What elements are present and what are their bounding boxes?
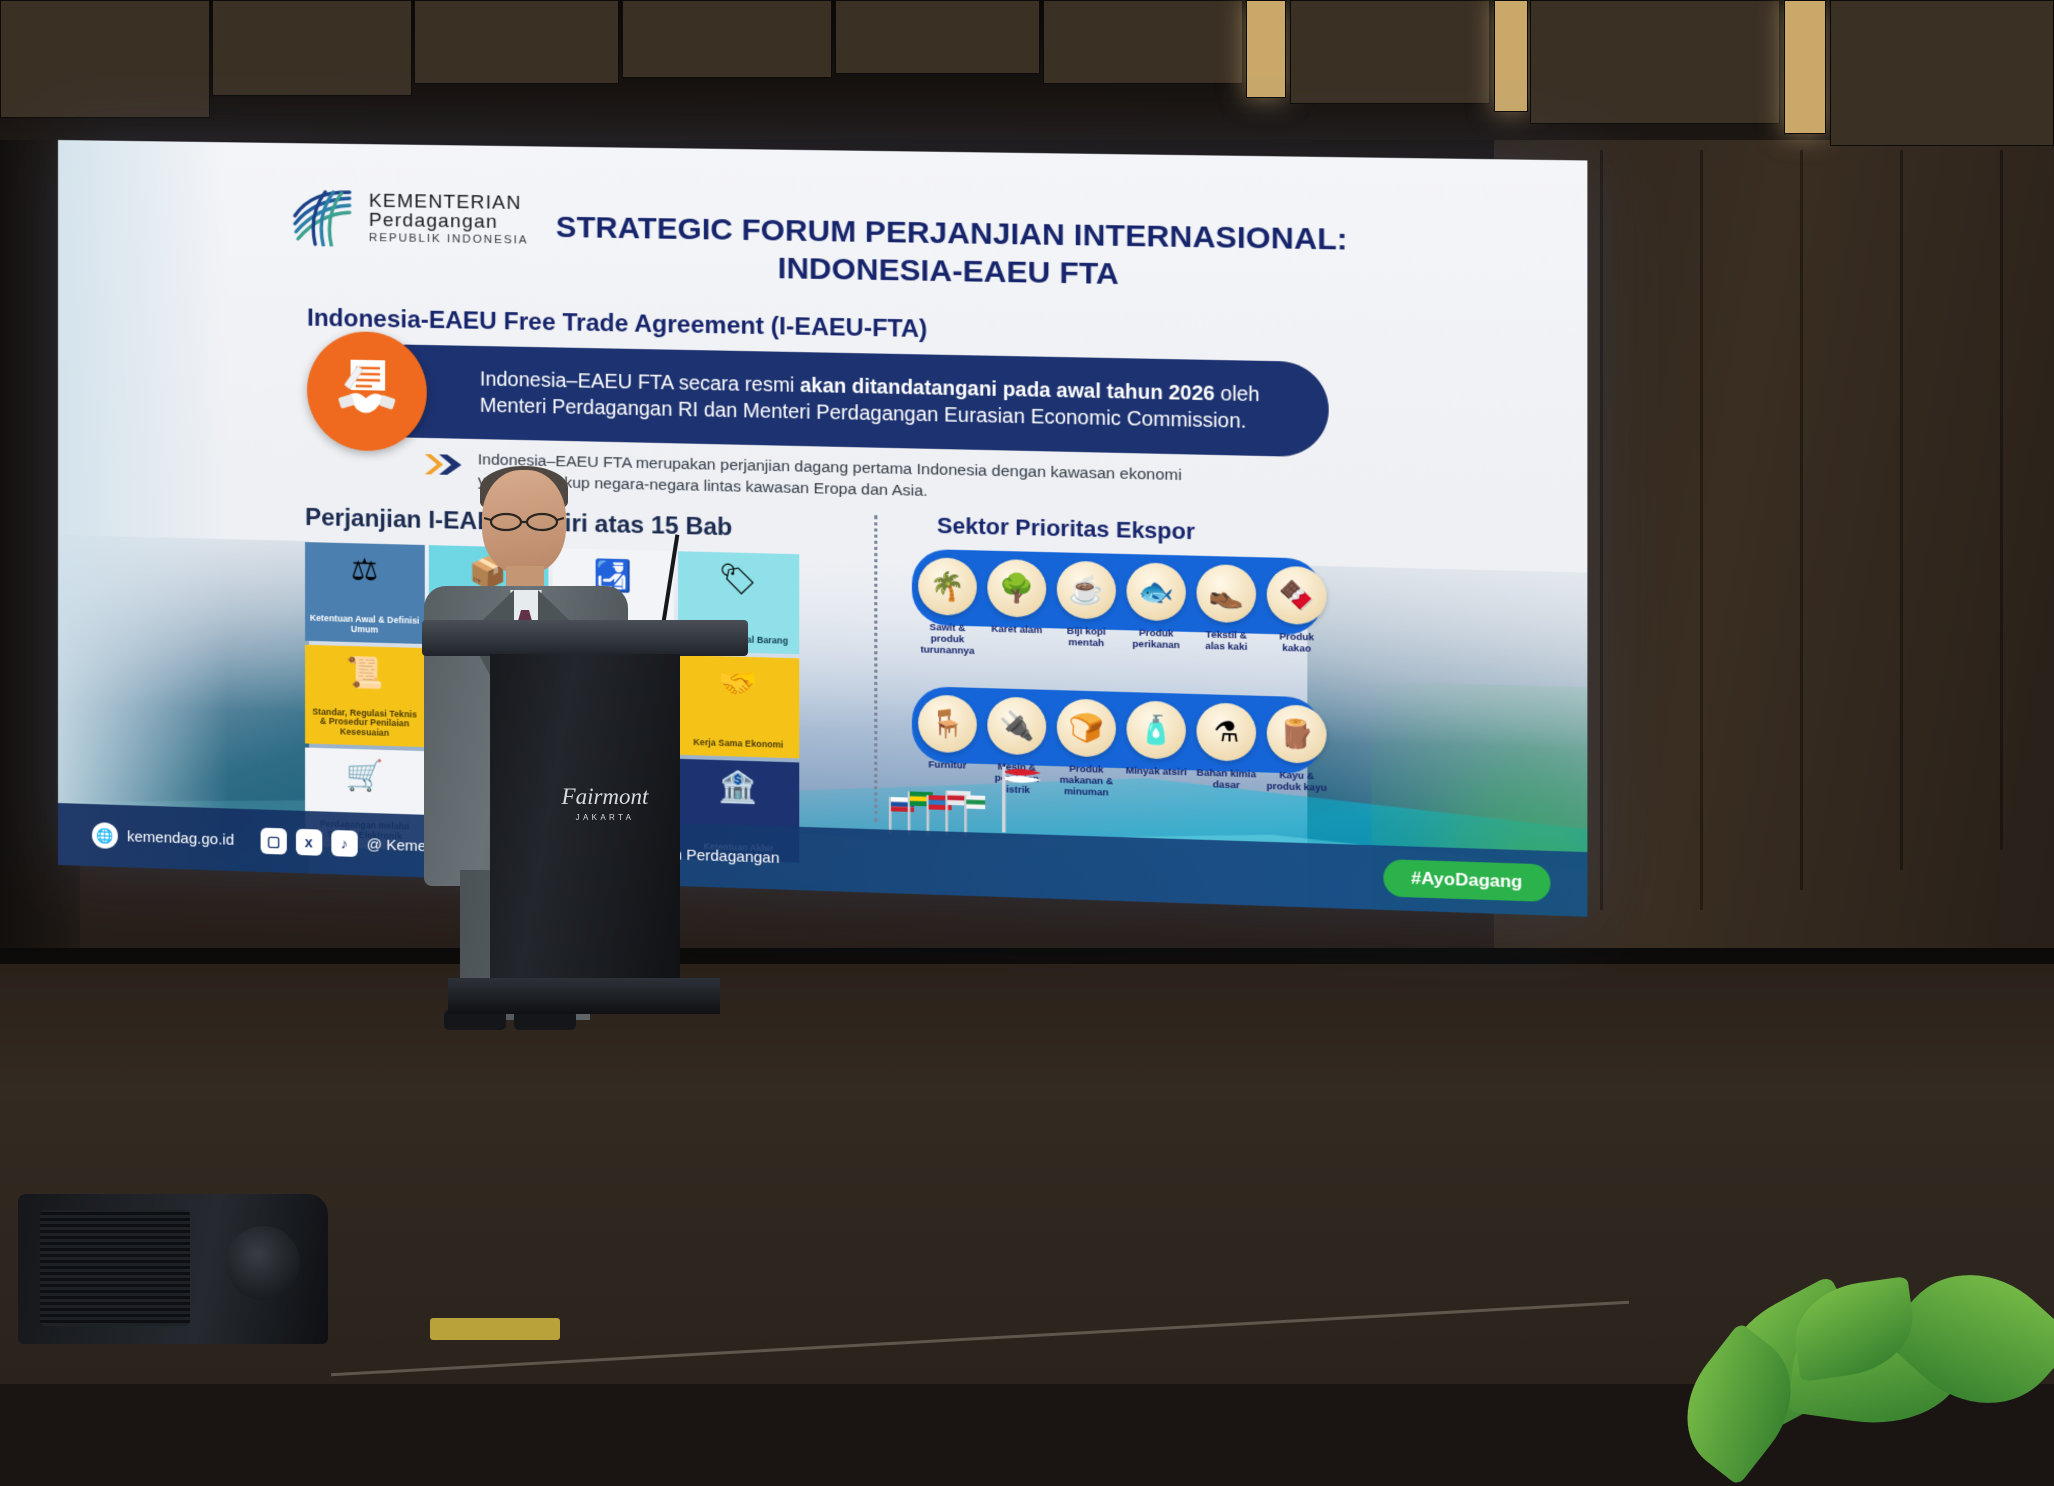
cocoa-product-icon: 🍫 [1267,566,1327,625]
campaign-hashtag-badge: #AyoDagang [1383,859,1550,902]
export-sector-item: 🐟Produk perikanan [1124,562,1188,663]
ceiling-light-panel [1494,0,1528,112]
signing-callout-box: Indonesia–EAEU FTA secara resmi akan dit… [360,344,1329,458]
export-sector-row-1: 🌴Sawit & produk turunannya🌳Karet alam☕Bi… [916,557,1329,667]
export-sector-label: Tekstil & alas kaki [1194,629,1258,653]
callout-text-bold: akan ditandatangani pada awal tahun 2026 [800,374,1215,405]
ceiling-panel [622,0,832,78]
woven-threads-logo-icon [291,187,356,246]
brand-line-3: REPUBLIK INDONESIA [369,232,529,246]
export-sector-item: 🍞Produk makanan & minuman [1055,698,1118,799]
footer-website-group[interactable]: 🌐 kemendag.go.id [92,822,234,853]
textile-footwear-icon: 👞 [1196,564,1256,623]
venue-name: Fairmont [540,784,670,810]
basic-chemicals-icon: ⚗ [1196,702,1256,762]
export-sector-item: 🍫Produk kakao [1265,566,1329,667]
member-flags-glyph [887,776,988,837]
export-sector-label: Produk kakao [1265,631,1329,656]
export-sector-label: Sawit & produk turunannya [916,622,979,658]
floor-monitor-plate [430,1318,560,1340]
signing-callout-text: Indonesia–EAEU FTA secara resmi akan dit… [480,366,1301,436]
export-sector-item: ☕Biji kopi mentah [1055,560,1118,660]
venue-city: JAKARTA [540,813,670,822]
ceiling-light-panel [1246,0,1286,98]
palm-oil-icon: 🌴 [918,557,977,616]
tiktok-icon[interactable]: ♪ [331,830,357,857]
export-sector-label: Produk makanan & minuman [1055,763,1118,799]
export-sector-label: Produk perikanan [1124,627,1188,651]
economic-cooperation-icon: 🤝 [719,668,758,700]
indonesia-flag-icon [1000,767,1055,840]
signed-agreement-handshake-icon [307,331,427,452]
chapter-tile-label: Ketentuan Awal & Definisi Umum [309,614,420,637]
eaeu-member-flags-icon [887,776,988,837]
loudspeaker-driver [226,1226,300,1300]
food-beverage-icon: 🍞 [1057,698,1116,757]
slide-title: STRATEGIC FORUM PERJANJIAN INTERNASIONAL… [533,209,1372,298]
ceiling-panel [0,0,210,118]
export-sectors-heading: Sektor Prioritas Ekspor [937,513,1195,546]
essential-oil-icon: 🧴 [1127,700,1186,759]
export-sector-label: Furnitur [928,759,966,771]
chapter-tile: 📜Standar, Regulasi Teknis & Prosedur Pen… [305,645,424,747]
export-sector-label: Bahan kimia dasar [1194,767,1258,792]
export-sector-label: Minyak atsiri [1126,765,1187,778]
export-sector-label: Biji kopi mentah [1055,625,1118,649]
export-sector-label: Karet alam [991,624,1042,637]
lectern: Fairmont JAKARTA [470,620,700,1020]
furniture-icon: 🪑 [918,694,977,753]
export-sector-item: 👞Tekstil & alas kaki [1194,564,1258,665]
brand-line-2: Perdagangan [369,211,529,233]
certificate-standard-icon: 📜 [346,658,384,689]
wall-slat [1700,150,1703,910]
ceiling-panel [212,0,412,96]
ecommerce-icon: 🛒 [346,761,384,792]
globe-icon: 🌐 [92,822,118,849]
final-provisions-icon: 🏦 [719,772,758,804]
loudspeaker-grill [40,1210,190,1326]
stage-loudspeaker [18,1134,348,1344]
coffee-beans-icon: ☕ [1057,561,1116,620]
ceiling-panel [1530,0,1780,124]
gavel-document-icon: ⚖ [351,555,378,586]
origin-parcel-seal-icon: 🏷 [719,564,758,596]
export-sector-item: 🧴Minyak atsiri [1124,700,1188,801]
instagram-icon[interactable]: ▢ [260,828,286,855]
ceiling-panel [414,0,619,84]
ministry-brand-lockup: KEMENTERIAN Perdagangan REPUBLIK INDONES… [291,187,528,249]
ceiling-panel [1830,0,2054,146]
electrical-machinery-icon: 🔌 [987,696,1046,755]
natural-rubber-icon: 🌳 [987,559,1046,618]
export-sector-label: Kayu & produk kayu [1265,769,1329,794]
wall-slat [1900,150,1903,870]
indonesia-flag-glyph [1000,767,1055,834]
handshake-document-glyph [327,351,406,431]
lectern-venue-logo: Fairmont JAKARTA [540,784,670,822]
chapter-tile: ⚖Ketentuan Awal & Definisi Umum [305,542,424,644]
fish-product-icon: 🐟 [1127,562,1186,621]
export-sector-item: 🌳Karet alam [985,559,1048,659]
x-twitter-icon[interactable]: x [296,829,322,856]
lectern-top [422,620,748,656]
ministry-brand-text: KEMENTERIAN Perdagangan REPUBLIK INDONES… [369,191,529,247]
lectern-body: Fairmont JAKARTA [490,654,680,984]
hashtag-prefix: #Ayo [1411,868,1455,889]
export-sector-item: ⚗Bahan kimia dasar [1194,702,1258,803]
wood-product-icon: 🪵 [1267,704,1327,764]
export-sector-item: 🪵Kayu & produk kayu [1265,704,1329,805]
lectern-base [448,978,720,1014]
hashtag-suffix: Dagang [1455,870,1522,892]
eyeglasses-icon [484,512,564,532]
chapter-tile-label: Standar, Regulasi Teknis & Prosedur Peni… [309,707,420,740]
slide-content: KEMENTERIAN Perdagangan REPUBLIK INDONES… [58,140,1587,917]
section-heading: Indonesia-EAEU Free Trade Agreement (I-E… [307,304,927,344]
wall-slat [1800,150,1803,890]
ceiling-light-panel [1784,0,1826,134]
ceiling-panel [1290,0,1490,104]
export-sector-item: 🌴Sawit & produk turunannya [916,557,979,657]
wall-slat [1600,150,1603,910]
wall-slat [2000,150,2003,850]
chapter-tile-label: Kerja Sama Ekonomi [693,738,783,751]
ceiling-panel [1043,0,1243,84]
loudspeaker-cabinet [18,1194,328,1344]
foreground-plant [1494,1124,2054,1384]
callout-text-before: Indonesia–EAEU FTA secara resmi [480,368,800,397]
footer-website-text: kemendag.go.id [127,828,234,849]
ceiling-panel [835,0,1040,74]
vertical-dotted-divider [874,515,877,822]
led-presentation-screen: KEMENTERIAN Perdagangan REPUBLIK INDONES… [58,140,1587,917]
